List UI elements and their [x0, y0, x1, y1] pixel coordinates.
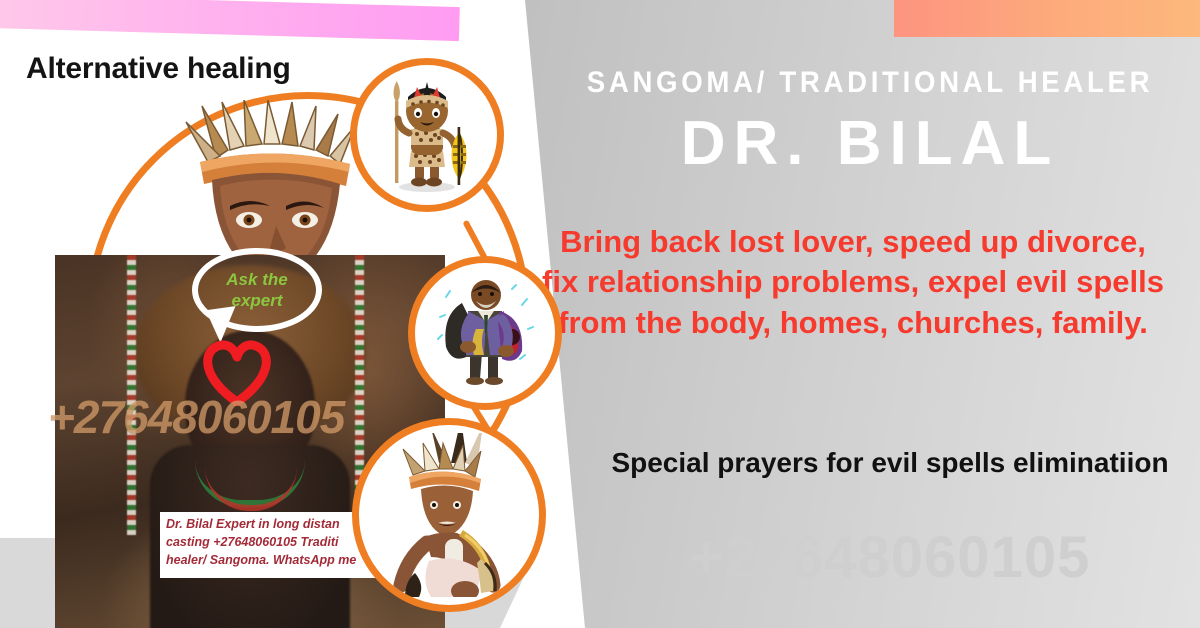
top-orange-bar [894, 0, 1200, 37]
special-prayers-subheading: Special prayers for evil spells eliminat… [600, 444, 1180, 482]
photo-phone-watermark: +27648060105 [48, 390, 344, 444]
bubble-line-1: Ask the [226, 269, 287, 290]
caption-line-3: healer/ Sangoma. WhatsApp me [166, 552, 389, 570]
bottom-left-grey-strip [0, 538, 56, 628]
services-body-text: Bring back lost lover, speed up divorce,… [538, 222, 1168, 343]
ask-the-expert-bubble: Ask the expert [192, 248, 322, 332]
phone-watermark: +27648060105 [600, 524, 1180, 591]
bubble-line-2: expert [231, 290, 282, 311]
sangoma-dancer-icon [352, 418, 546, 612]
zulu-warrior-cartoon-icon [350, 58, 504, 212]
poster-canvas: Alternative healing [0, 0, 1200, 628]
traditional-healer-figure-icon [408, 256, 562, 410]
kicker-text: SANGOMA/ TRADITIONAL HEALER [585, 66, 1155, 100]
doctor-name-title: DR. BILAL [560, 108, 1180, 179]
top-pink-bar [0, 0, 460, 41]
page-title: Alternative healing [26, 52, 291, 86]
